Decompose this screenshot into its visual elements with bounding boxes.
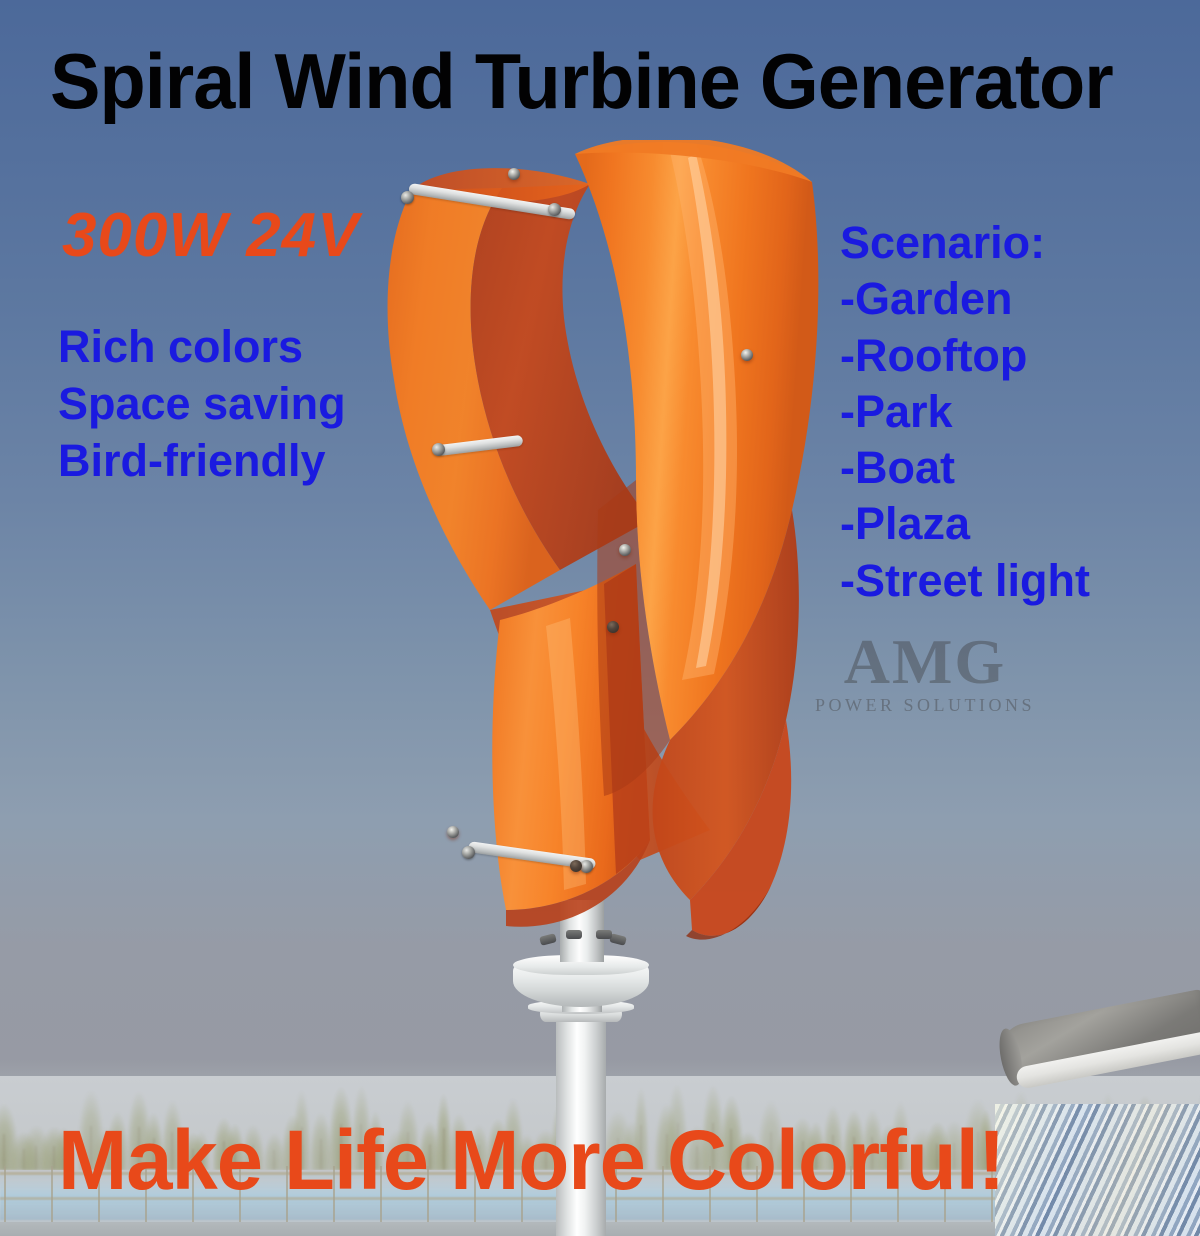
scenario-item-5: -Street light xyxy=(840,553,1090,609)
solar-water-heater xyxy=(995,1028,1200,1236)
spiral-wind-turbine: AMG POWER SOLUTIONS xyxy=(350,140,840,940)
feature-item-1: Space saving xyxy=(58,375,346,432)
fence-post xyxy=(4,1166,6,1228)
power-spec-label: 300W 24V xyxy=(62,200,360,271)
feature-list: Rich colors Space saving Bird-friendly xyxy=(58,318,346,489)
solar-tube-glare xyxy=(995,1104,1200,1236)
scenario-list: Scenario: -Garden -Rooftop -Park -Boat -… xyxy=(840,215,1090,609)
scenario-item-3: -Boat xyxy=(840,440,1090,496)
upper-arm-bolt-left xyxy=(401,191,414,204)
mid-arm-bolt xyxy=(432,443,445,456)
page-title: Spiral Wind Turbine Generator xyxy=(50,36,1113,127)
scenario-item-1: -Rooftop xyxy=(840,328,1090,384)
scenario-heading: Scenario: xyxy=(840,215,1090,271)
tagline: Make Life More Colorful! xyxy=(58,1112,1005,1209)
scenario-item-0: -Garden xyxy=(840,271,1090,327)
blade-bolt-center xyxy=(619,544,631,556)
scenario-item-2: -Park xyxy=(840,384,1090,440)
blade-bolt-top xyxy=(508,168,520,180)
turbine-blade-group xyxy=(350,140,840,940)
blade-bolt-lower-center xyxy=(570,860,582,872)
fence-post xyxy=(51,1166,53,1228)
lower-arm-bolt-left xyxy=(462,846,475,859)
feature-item-0: Rich colors xyxy=(58,318,346,375)
upper-arm-bolt-right xyxy=(548,203,561,216)
blade-bolt-lower-left xyxy=(447,826,459,838)
product-poster: AMG POWER SOLUTIONS Spiral Wind Turbine … xyxy=(0,0,1200,1236)
blade-bolt-mid xyxy=(607,621,619,633)
scenario-item-4: -Plaza xyxy=(840,496,1090,552)
blade-bolt-upper-right xyxy=(741,349,753,361)
feature-item-2: Bird-friendly xyxy=(58,432,346,489)
